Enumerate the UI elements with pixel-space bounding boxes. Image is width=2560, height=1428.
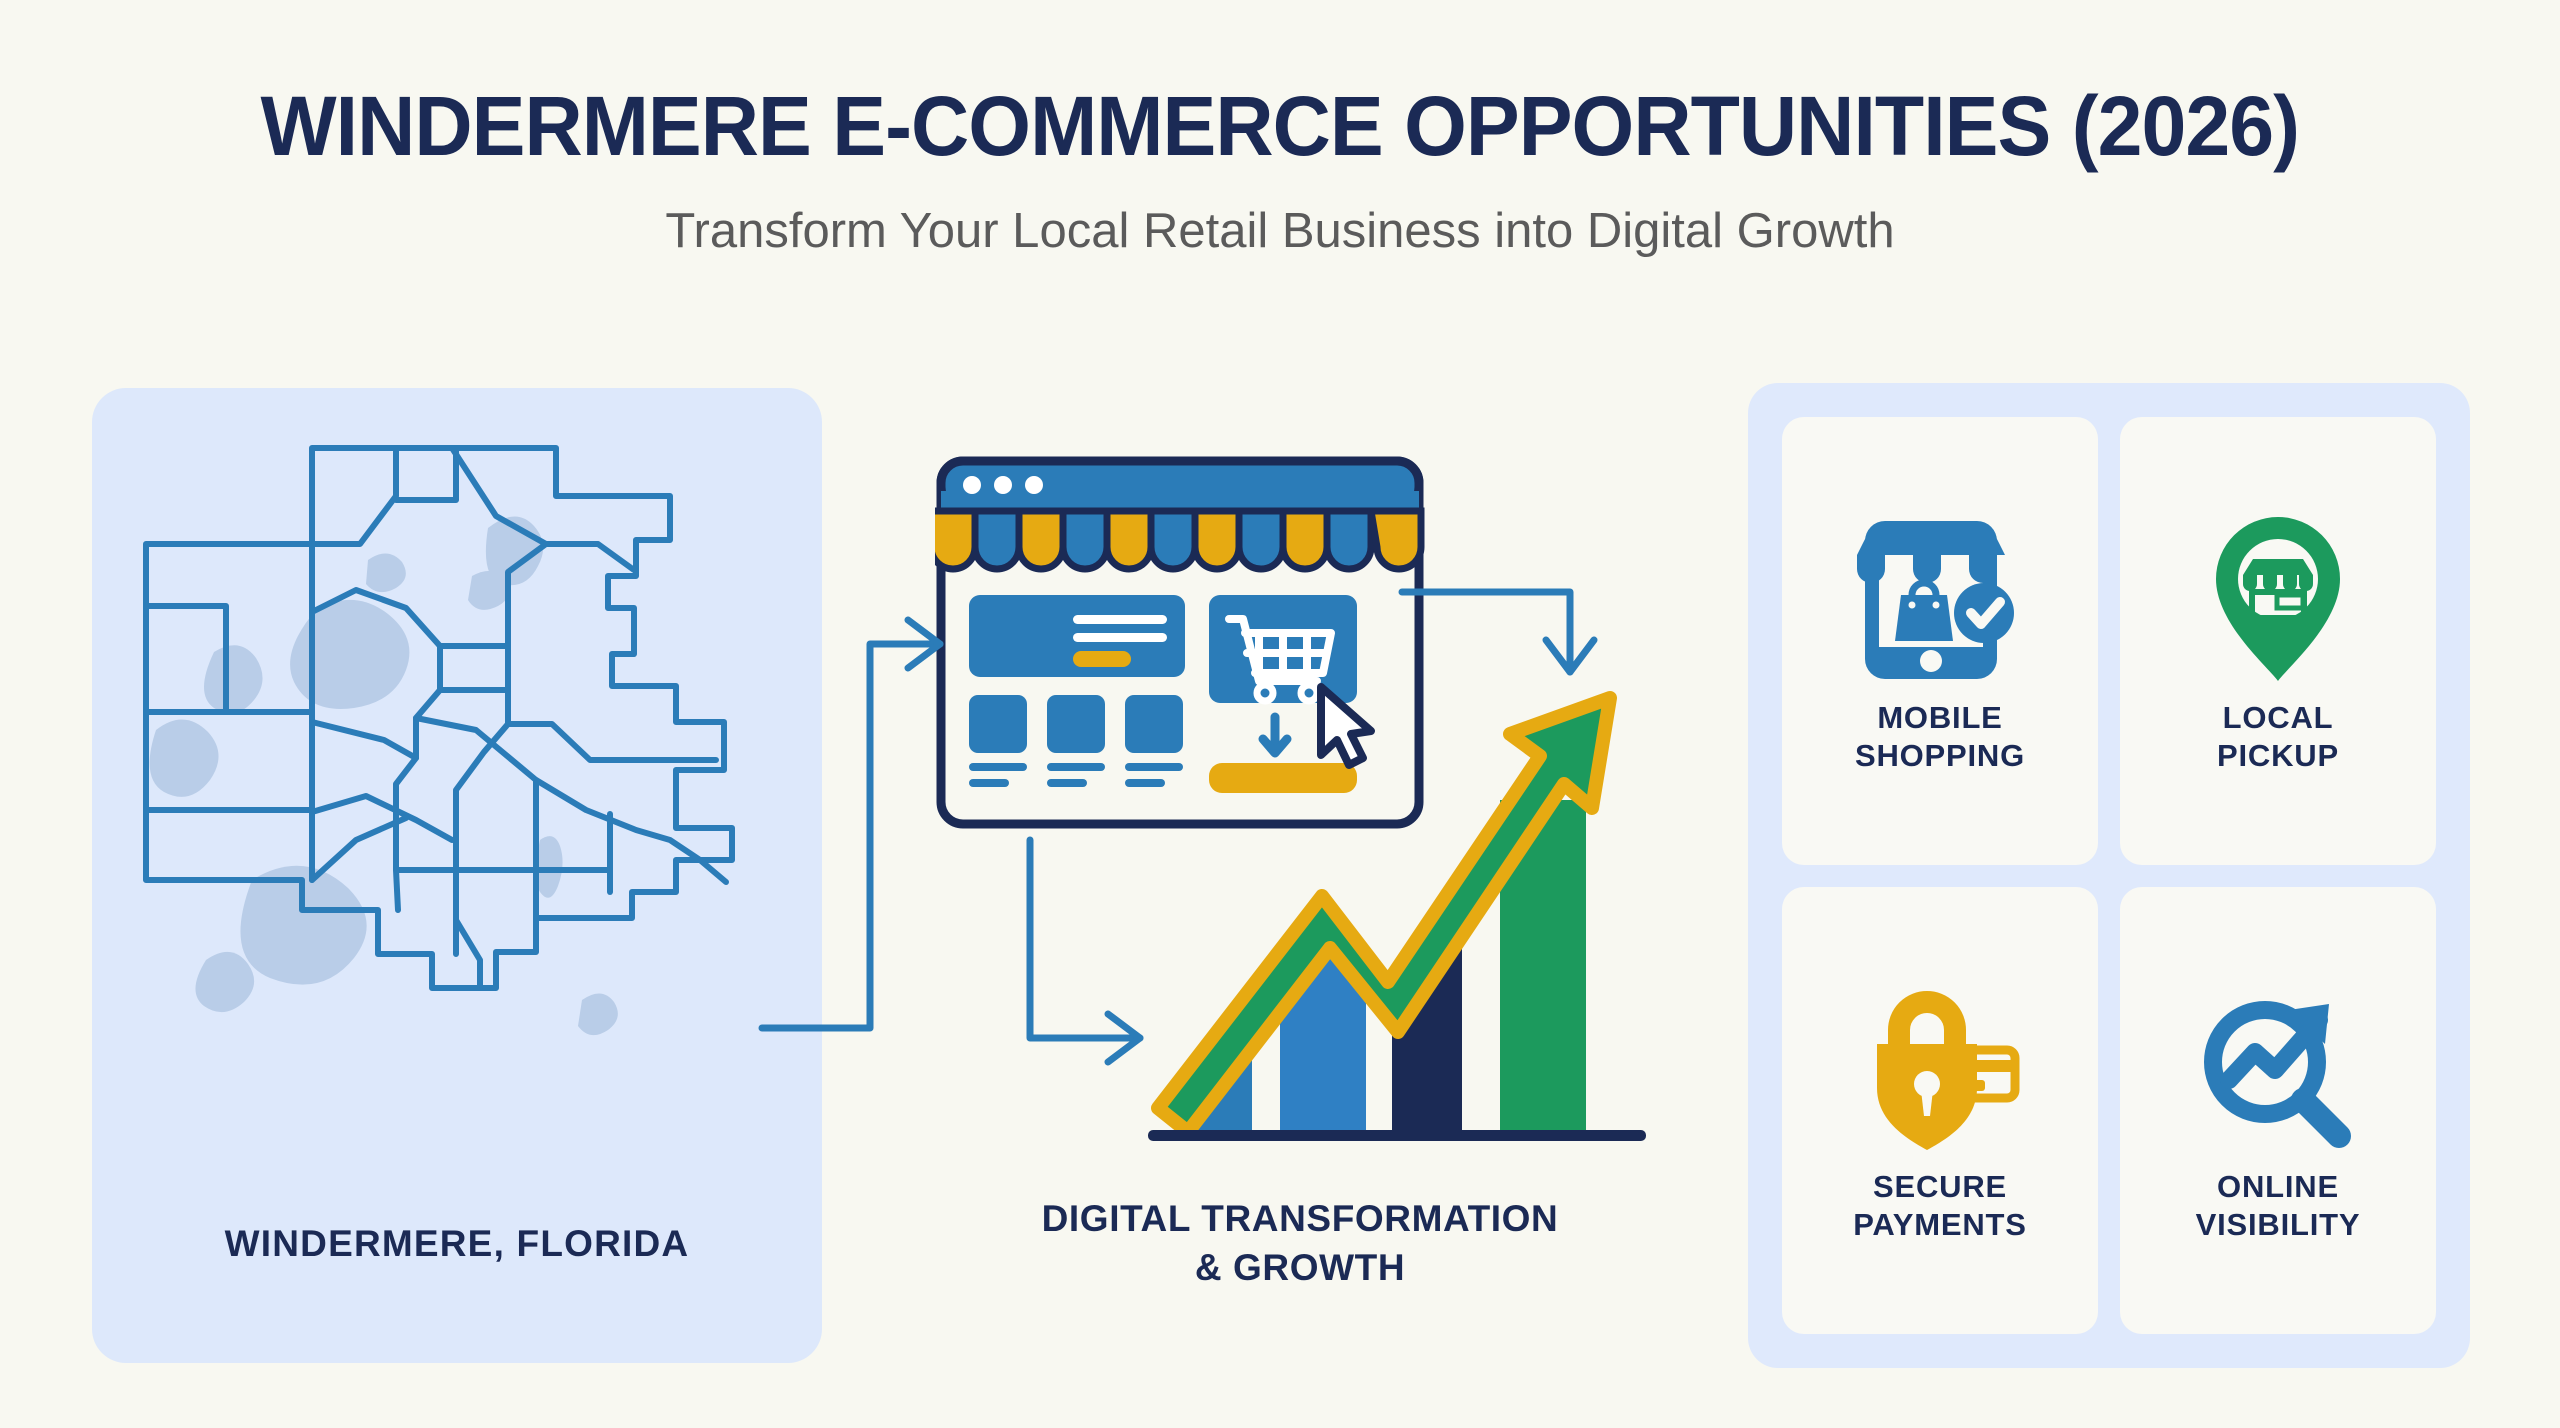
center-caption-line1: DIGITAL TRANSFORMATION [900,1195,1700,1244]
center-caption-line2: & GROWTH [900,1244,1700,1293]
label-line2: SHOPPING [1855,738,2025,773]
label-line1: SECURE [1873,1169,2007,1204]
center-caption: DIGITAL TRANSFORMATION & GROWTH [900,1195,1700,1293]
page-subtitle: Transform Your Local Retail Business int… [665,203,1894,259]
bar-chart-growth-arrow-icon [1140,660,1670,1160]
window-dot-3 [1025,476,1043,494]
feature-label-secure-payments: SECURE PAYMENTS [1853,1168,2027,1244]
awning-icon [935,511,1421,569]
label-line1: ONLINE [2217,1169,2339,1204]
feature-card-secure-payments[interactable]: SECURE PAYMENTS [1782,887,2098,1335]
feature-label-online-visibility: ONLINE VISIBILITY [2196,1168,2361,1244]
label-line2: VISIBILITY [2196,1207,2361,1242]
feature-label-local-pickup: LOCAL PICKUP [2217,699,2339,775]
feature-card-mobile-shopping[interactable]: MOBILE SHOPPING [1782,417,2098,865]
window-dot-1 [963,476,981,494]
chart-baseline [1148,1130,1646,1141]
label-line1: LOCAL [2223,700,2334,735]
feature-cards-panel: MOBILE SHOPPING LOCAL PICKUP [1748,383,2470,1368]
feature-card-local-pickup[interactable]: LOCAL PICKUP [2120,417,2436,865]
label-line2: PAYMENTS [1853,1207,2027,1242]
windermere-map-panel: WINDERMERE, FLORIDA [92,388,822,1363]
city-map-icon [116,440,806,1180]
map-caption: WINDERMERE, FLORIDA [92,1223,822,1265]
mobile-storefront-check-icon [1855,503,2025,693]
arrow-storefront-to-chart [1030,840,1140,1038]
page-title: WINDERMERE E-COMMERCE OPPORTUNITIES (202… [261,78,2300,175]
padlock-credit-card-icon [1855,972,2025,1162]
header: WINDERMERE E-COMMERCE OPPORTUNITIES (202… [0,0,2560,330]
magnifier-trend-arrow-icon [2193,972,2363,1162]
map-pin-store-icon [2193,503,2363,693]
window-dot-2 [994,476,1012,494]
label-line1: MOBILE [1877,700,2002,735]
label-line2: PICKUP [2217,738,2339,773]
feature-card-online-visibility[interactable]: ONLINE VISIBILITY [2120,887,2436,1335]
feature-label-mobile-shopping: MOBILE SHOPPING [1855,699,2025,775]
